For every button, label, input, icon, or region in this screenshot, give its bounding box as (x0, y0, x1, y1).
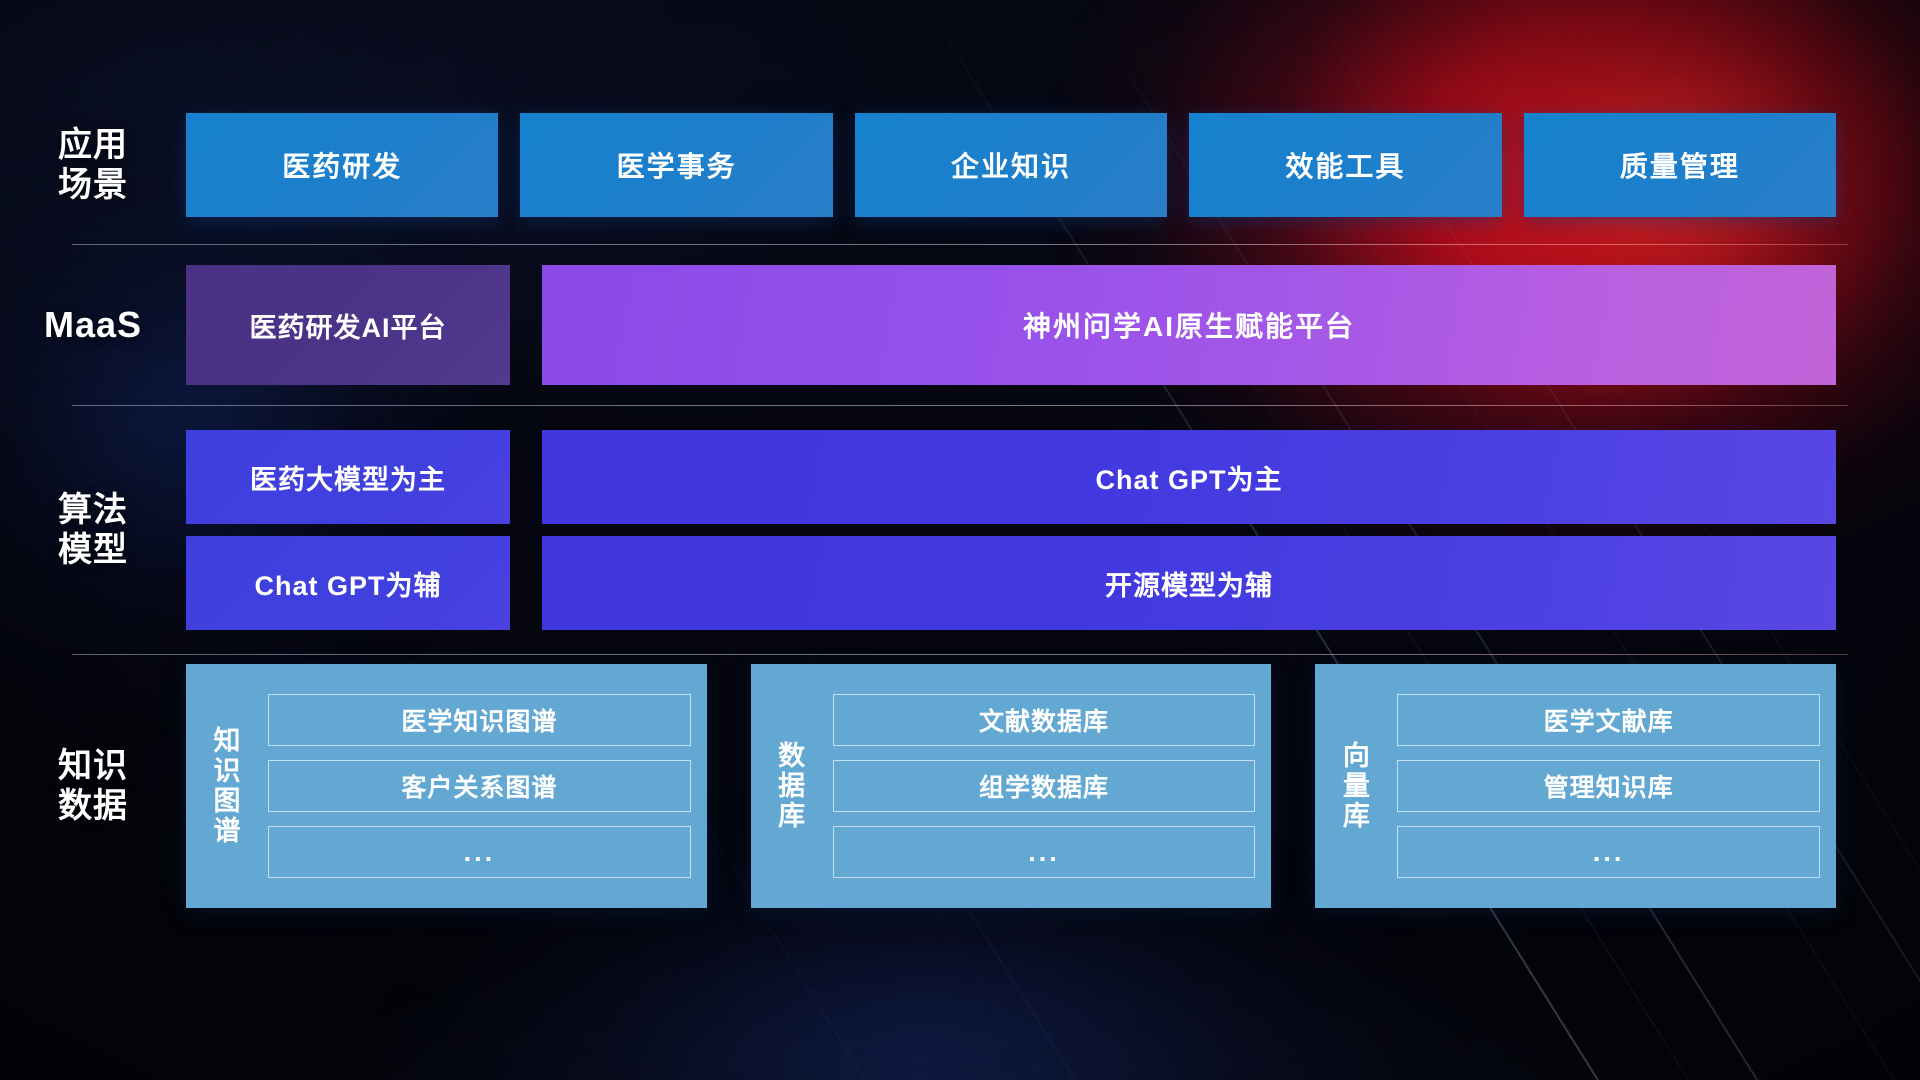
row-algorithm-model: 算法 模型 医药大模型为主 Chat GPT为主 Chat GPT为辅 开源模型… (0, 406, 1920, 654)
knowledge-item-list: 医学知识图谱 客户关系图谱 ... (268, 694, 691, 878)
scenario-box-label: 质量管理 (1620, 145, 1740, 185)
maas-platform-drug-rd[interactable]: 医药研发AI平台 (186, 265, 510, 385)
row-application-scenarios: 应用 场景 医药研发 医学事务 企业知识 效能工具 质量管理 (0, 86, 1920, 244)
knowledge-item-more[interactable]: ... (833, 826, 1256, 878)
knowledge-card-vertical-label: 数 据 库 (761, 741, 823, 832)
knowledge-card-database[interactable]: 数 据 库 文献数据库 组学数据库 ... (751, 664, 1272, 908)
knowledge-card-vertical-label: 知 识 图 谱 (196, 726, 258, 847)
maas-platform-shenzhou-wenxue[interactable]: 神州问学AI原生赋能平台 (542, 265, 1836, 385)
row-knowledge-data: 知识 数据 知 识 图 谱 医学知识图谱 客户关系图谱 ... 数 据 库 文献… (0, 655, 1920, 917)
algo-box-chatgpt-primary[interactable]: Chat GPT为主 (542, 430, 1836, 524)
knowledge-item[interactable]: 文献数据库 (833, 694, 1256, 746)
maas-right-label: 神州问学AI原生赋能平台 (1023, 305, 1355, 345)
row-label-algorithm-model: 算法 模型 (0, 490, 186, 570)
knowledge-item[interactable]: 客户关系图谱 (268, 760, 691, 812)
scenario-box-quality-management[interactable]: 质量管理 (1524, 113, 1836, 217)
scenario-box-label: 企业知识 (951, 145, 1071, 185)
knowledge-item-list: 文献数据库 组学数据库 ... (833, 694, 1256, 878)
algo-box-pharma-llm-primary[interactable]: 医药大模型为主 (186, 430, 510, 524)
scenario-box-drug-rd[interactable]: 医药研发 (186, 113, 498, 217)
knowledge-item-more[interactable]: ... (1397, 826, 1820, 878)
knowledge-card-list: 知 识 图 谱 医学知识图谱 客户关系图谱 ... 数 据 库 文献数据库 组学… (186, 664, 1920, 908)
row-label-application-scenarios: 应用 场景 (0, 125, 186, 205)
slide-root: 应用 场景 医药研发 医学事务 企业知识 效能工具 质量管理 (0, 0, 1920, 1080)
algo-box-label: Chat GPT为辅 (254, 564, 441, 603)
algorithm-line-primary: 医药大模型为主 Chat GPT为主 (186, 430, 1836, 524)
algo-box-label: 医药大模型为主 (250, 458, 446, 497)
knowledge-item-list: 医学文献库 管理知识库 ... (1397, 694, 1820, 878)
algo-box-label: Chat GPT为主 (1095, 458, 1282, 497)
knowledge-item[interactable]: 医学知识图谱 (268, 694, 691, 746)
scenario-box-label: 医药研发 (282, 145, 402, 185)
row-maas: MaaS 医药研发AI平台 神州问学AI原生赋能平台 (0, 245, 1920, 405)
knowledge-card-knowledge-graph[interactable]: 知 识 图 谱 医学知识图谱 客户关系图谱 ... (186, 664, 707, 908)
scenario-box-label: 效能工具 (1285, 145, 1405, 185)
algo-box-chatgpt-secondary[interactable]: Chat GPT为辅 (186, 536, 510, 630)
scenario-box-label: 医学事务 (617, 145, 737, 185)
algo-box-opensource-secondary[interactable]: 开源模型为辅 (542, 536, 1836, 630)
maas-left-label: 医药研发AI平台 (250, 306, 447, 345)
knowledge-item[interactable]: 组学数据库 (833, 760, 1256, 812)
knowledge-item[interactable]: 医学文献库 (1397, 694, 1820, 746)
knowledge-card-vector-store[interactable]: 向 量 库 医学文献库 管理知识库 ... (1315, 664, 1836, 908)
algorithm-line-secondary: Chat GPT为辅 开源模型为辅 (186, 536, 1836, 630)
algorithm-bar-list: 医药大模型为主 Chat GPT为主 Chat GPT为辅 开源模型为辅 (186, 430, 1920, 630)
algo-box-label: 开源模型为辅 (1105, 564, 1273, 603)
knowledge-item-more[interactable]: ... (268, 826, 691, 878)
scenario-box-enterprise-knowledge[interactable]: 企业知识 (855, 113, 1167, 217)
scenario-box-medical-affairs[interactable]: 医学事务 (520, 113, 832, 217)
diagram-rows: 应用 场景 医药研发 医学事务 企业知识 效能工具 质量管理 (0, 86, 1920, 917)
knowledge-item[interactable]: 管理知识库 (1397, 760, 1820, 812)
scenario-box-efficiency-tools[interactable]: 效能工具 (1189, 113, 1501, 217)
row-label-knowledge-data: 知识 数据 (0, 746, 186, 826)
row-label-maas: MaaS (0, 304, 186, 346)
maas-bar-list: 医药研发AI平台 神州问学AI原生赋能平台 (186, 265, 1920, 385)
knowledge-card-vertical-label: 向 量 库 (1325, 741, 1387, 832)
scenario-box-list: 医药研发 医学事务 企业知识 效能工具 质量管理 (186, 113, 1920, 217)
